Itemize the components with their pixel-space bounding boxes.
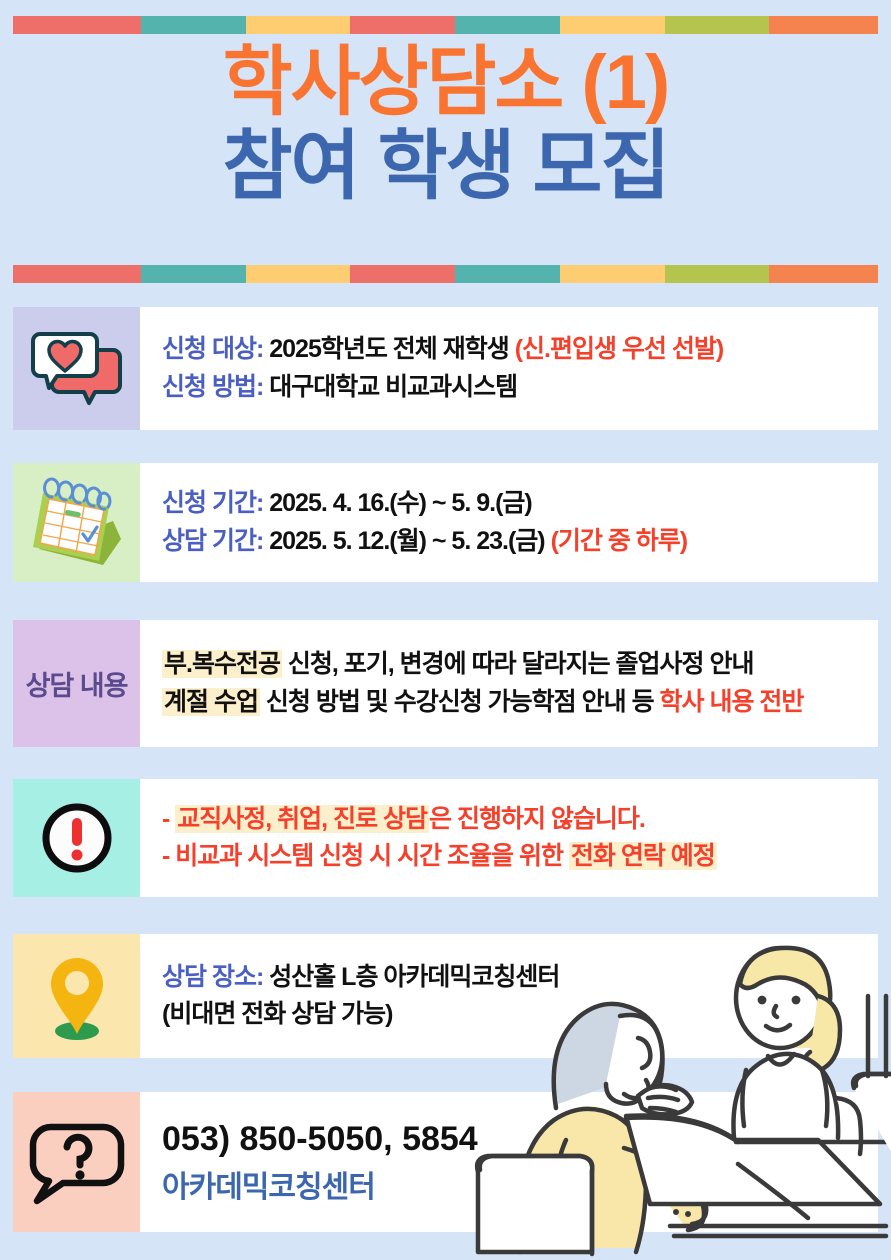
- stripe-segment: [141, 16, 246, 34]
- notice-line-2: - 비교과 시스템 신청 시 시간 조율을 위한 전화 연락 예정: [162, 838, 878, 876]
- stripe-segment: [350, 265, 455, 283]
- contact-organization: 아카데믹코칭센터: [162, 1165, 878, 1210]
- consultation-period-value: 2025. 5. 12.(월) ~ 5. 23.(금): [263, 527, 550, 555]
- row2-text: 신청 기간: 2025. 4. 16.(수) ~ 5. 9.(금) 상담 기간:…: [140, 463, 878, 582]
- stripe-segment: [560, 265, 665, 283]
- topic-2-rest: 신청 방법 및 수강신청 가능학점 안내 등: [260, 688, 660, 716]
- stripe-segment: [665, 265, 770, 283]
- stripe-segment: [141, 265, 246, 283]
- stripe-segment: [665, 16, 770, 34]
- decorative-stripe-top: [13, 16, 878, 34]
- stripe-segment: [246, 265, 351, 283]
- notice-1-rest: 은 진행하지 않습니다.: [429, 805, 645, 833]
- location-value: 성산홀 L층 아카데믹코칭센터: [263, 963, 559, 991]
- location-label: 상담 장소:: [162, 963, 263, 991]
- speech-bubble-heart-icon: [13, 307, 140, 430]
- topic-2-note: 학사 내용 전반: [660, 688, 804, 716]
- application-target-value: 2025학년도 전체 재학생: [263, 335, 514, 363]
- row3-text: 부.복수전공 신청, 포기, 변경에 따라 달라지는 졸업사정 안내 계절 수업…: [140, 620, 878, 747]
- stripe-segment: [560, 16, 665, 34]
- application-method-value: 대구대학교 비교과시스템: [263, 373, 517, 401]
- location-note-line: (비대면 전화 상담 가능): [162, 996, 878, 1034]
- stripe-segment: [246, 16, 351, 34]
- info-row-application: 신청 대상: 2025학년도 전체 재학생 (신.편입생 우선 선발) 신청 방…: [13, 307, 878, 430]
- stripe-segment: [769, 16, 878, 34]
- info-row-location: 상담 장소: 성산홀 L층 아카데믹코칭센터 (비대면 전화 상담 가능): [13, 934, 878, 1058]
- topic-line-2: 계절 수업 신청 방법 및 수강신청 가능학점 안내 등 학사 내용 전반: [162, 684, 878, 722]
- application-target-note: (신.편입생 우선 선발): [515, 335, 724, 363]
- notice-1-highlight: 교직사정, 취업, 진로 상담: [175, 805, 429, 833]
- topic-1-rest: 신청, 포기, 변경에 따라 달라지는 졸업사정 안내: [282, 650, 754, 678]
- decorative-stripe-bottom: [13, 265, 878, 283]
- info-row-period: 신청 기간: 2025. 4. 16.(수) ~ 5. 9.(금) 상담 기간:…: [13, 463, 878, 582]
- stripe-segment: [350, 16, 455, 34]
- map-pin-icon: [13, 934, 140, 1058]
- info-row-notice: - 교직사정, 취업, 진로 상담은 진행하지 않습니다. - 비교과 시스템 …: [13, 779, 878, 897]
- row4-text: - 교직사정, 취업, 진로 상담은 진행하지 않습니다. - 비교과 시스템 …: [140, 779, 878, 897]
- topic-line-1: 부.복수전공 신청, 포기, 변경에 따라 달라지는 졸업사정 안내: [162, 646, 878, 684]
- row6-text: 053) 850-5050, 5854 아카데믹코칭센터: [140, 1092, 878, 1232]
- consultation-topic-label: 상담 내용: [13, 620, 140, 747]
- application-target-line: 신청 대상: 2025학년도 전체 재학생 (신.편입생 우선 선발): [162, 331, 878, 369]
- row1-text: 신청 대상: 2025학년도 전체 재학생 (신.편입생 우선 선발) 신청 방…: [140, 307, 878, 430]
- application-period-value: 2025. 4. 16.(수) ~ 5. 9.(금): [263, 489, 531, 517]
- application-period-label: 신청 기간:: [162, 489, 263, 517]
- notice-1-dash: -: [162, 805, 175, 833]
- question-speech-bubble-icon: [13, 1092, 140, 1232]
- notice-2-highlight: 전화 연락 예정: [569, 842, 717, 870]
- desk-calendar-icon: [13, 463, 140, 582]
- title-line-2: 참여 학생 모집: [0, 128, 891, 206]
- consultation-period-label: 상담 기간:: [162, 527, 263, 555]
- stripe-segment: [769, 265, 878, 283]
- notice-2-plain: 비교과 시스템 신청 시 시간 조율을 위한: [175, 842, 569, 870]
- poster-root: 학사상담소 (1) 참여 학생 모집 신청 대상: 2025학년도 전체 재학생…: [0, 0, 891, 1260]
- info-row-contact: 053) 850-5050, 5854 아카데믹코칭센터: [13, 1092, 878, 1232]
- application-method-line: 신청 방법: 대구대학교 비교과시스템: [162, 369, 878, 407]
- stripe-segment: [455, 265, 560, 283]
- poster-title: 학사상담소 (1) 참여 학생 모집: [0, 44, 891, 205]
- info-row-topics: 상담 내용 부.복수전공 신청, 포기, 변경에 따라 달라지는 졸업사정 안내…: [13, 620, 878, 747]
- application-period-line: 신청 기간: 2025. 4. 16.(수) ~ 5. 9.(금): [162, 485, 878, 523]
- application-target-label: 신청 대상:: [162, 335, 263, 363]
- notice-2-dash: -: [162, 842, 175, 870]
- notice-line-1: - 교직사정, 취업, 진로 상담은 진행하지 않습니다.: [162, 801, 878, 839]
- stripe-segment: [455, 16, 560, 34]
- exclamation-circle-icon: [13, 779, 140, 897]
- application-method-label: 신청 방법:: [162, 373, 263, 401]
- title-line-1: 학사상담소 (1): [0, 44, 891, 122]
- consultation-period-note: (기간 중 하루): [551, 527, 688, 555]
- topic-2-highlight: 계절 수업: [162, 688, 260, 716]
- consultation-period-line: 상담 기간: 2025. 5. 12.(월) ~ 5. 23.(금) (기간 중…: [162, 523, 878, 561]
- contact-phone: 053) 850-5050, 5854: [162, 1114, 878, 1165]
- topic-1-highlight: 부.복수전공: [162, 650, 282, 678]
- location-line: 상담 장소: 성산홀 L층 아카데믹코칭센터: [162, 959, 878, 997]
- row5-text: 상담 장소: 성산홀 L층 아카데믹코칭센터 (비대면 전화 상담 가능): [140, 934, 878, 1058]
- stripe-segment: [13, 16, 141, 34]
- stripe-segment: [13, 265, 141, 283]
